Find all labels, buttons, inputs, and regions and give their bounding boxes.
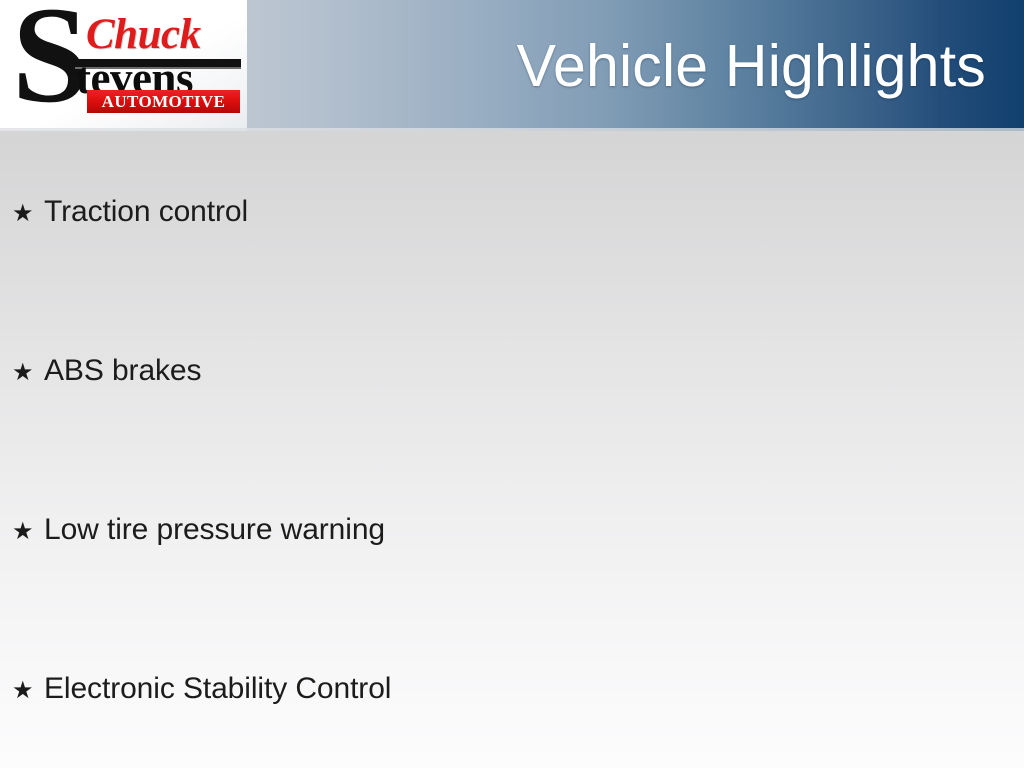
star-icon: ★ [12,358,44,388]
slide-header: S Chuck tevens AUTOMOTIVE Vehicle Highli… [0,0,1024,131]
logo-tagline-text: AUTOMOTIVE [87,90,240,113]
list-item: ★ Low tire pressure warning [12,511,385,549]
list-item-label: Traction control [44,193,248,231]
logo-tagline-bar: AUTOMOTIVE [87,90,240,113]
list-item-label: ABS brakes [44,352,201,390]
list-item-label: Low tire pressure warning [44,511,385,549]
highlights-list: ★ Traction control ★ ABS brakes ★ Low ti… [0,131,1024,768]
dealer-logo[interactable]: S Chuck tevens AUTOMOTIVE [0,0,247,131]
vehicle-highlights-slide: S Chuck tevens AUTOMOTIVE Vehicle Highli… [0,0,1024,768]
page-title: Vehicle Highlights [517,26,986,106]
star-icon: ★ [12,199,44,229]
star-icon: ★ [12,517,44,547]
logo-brand-first-line: Chuck [86,12,201,58]
star-icon: ★ [12,676,44,706]
list-item: ★ Traction control [12,193,248,231]
list-item: ★ ABS brakes [12,352,201,390]
list-item-label: Electronic Stability Control [44,670,391,708]
list-item: ★ Electronic Stability Control [12,670,391,708]
